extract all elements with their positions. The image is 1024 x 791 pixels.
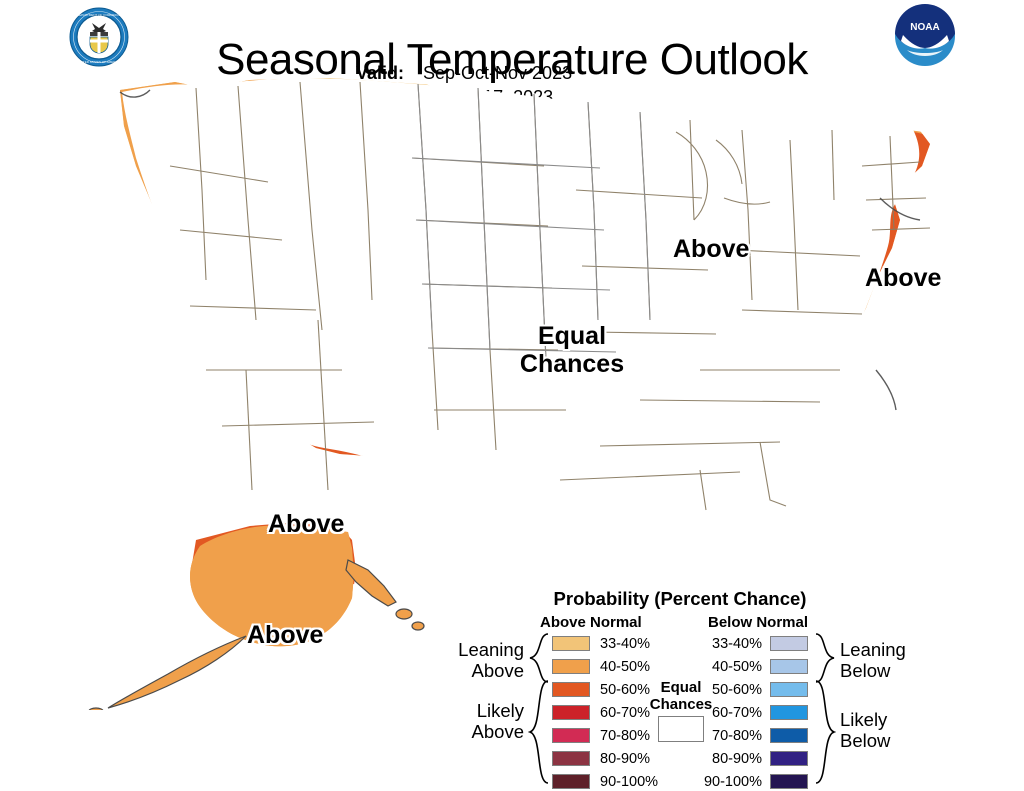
legend-swatch-below-50-60 xyxy=(770,682,808,697)
conus-coastline xyxy=(122,78,919,518)
noaa-logo-text: NOAA xyxy=(910,22,939,33)
legend-equal-chances-line1: Equal xyxy=(621,680,741,697)
legend-label-below-80-90: 80-90% xyxy=(674,751,762,767)
legend-likely-below-label: Likely Below xyxy=(840,710,940,751)
legend-label-below-33-40: 33-40% xyxy=(674,636,762,652)
map-label-above-southwest: Above xyxy=(268,510,344,539)
map-label-above-northeast: Above xyxy=(865,264,941,293)
legend-equal-chances-line2: Chances xyxy=(621,697,741,714)
legend-swatch-below-40-50 xyxy=(770,659,808,674)
noaa-logo-icon: NOAA xyxy=(893,4,957,68)
legend-swatch-below-90-100 xyxy=(770,774,808,789)
map-label-equal-chances: Equal Chances xyxy=(507,322,637,378)
bracket-leaning-below-icon xyxy=(814,632,836,684)
map-label-above-alaska: Above xyxy=(247,621,323,650)
legend-likely-below-line2: Below xyxy=(840,731,940,752)
legend-likely-above-line2: Above xyxy=(424,722,524,743)
map-label-equal-chances-line1: Equal xyxy=(507,322,637,350)
legend-row-below-5: 80-90% xyxy=(420,751,840,772)
bracket-likely-above-icon xyxy=(528,678,550,788)
legend-leaning-above-label: Leaning Above xyxy=(424,640,524,681)
legend-swatch-below-33-40 xyxy=(770,636,808,651)
legend-swatch-below-70-80 xyxy=(770,728,808,743)
map-label-equal-chances-line2: Chances xyxy=(507,350,637,378)
legend-row-below-6: 90-100% xyxy=(420,774,840,791)
legend-likely-above-label: Likely Above xyxy=(424,701,524,742)
legend-leaning-above-line2: Above xyxy=(424,661,524,682)
legend-leaning-below-label: Leaning Below xyxy=(840,640,940,681)
alaska-panhandle xyxy=(346,560,424,630)
legend-equal-chances-label: Equal Chances xyxy=(621,680,741,714)
alaska-inset xyxy=(27,510,424,710)
legend-swatch-below-80-90 xyxy=(770,751,808,766)
svg-text:DEPARTMENT OF COMMERCE: DEPARTMENT OF COMMERCE xyxy=(77,13,121,17)
bracket-likely-below-icon xyxy=(814,678,836,788)
map-label-above-great-lakes: Above xyxy=(673,235,749,264)
legend-swatch-below-60-70 xyxy=(770,705,808,720)
legend-label-below-90-100: 90-100% xyxy=(674,774,762,790)
probability-legend: Probability (Percent Chance) Above Norma… xyxy=(420,588,940,791)
legend-leaning-above-line1: Leaning xyxy=(424,640,524,661)
legend-leaning-below-line2: Below xyxy=(840,661,940,682)
legend-likely-below-line1: Likely xyxy=(840,710,940,731)
legend-title: Probability (Percent Chance) xyxy=(420,588,940,610)
legend-swatch-equal-chances xyxy=(658,716,704,742)
aleutian-islands xyxy=(27,636,246,710)
seasonal-temperature-outlook-page: DEPARTMENT OF COMMERCE UNITED STATES OF … xyxy=(0,0,1024,791)
legend-above-normal-header: Above Normal xyxy=(540,614,642,631)
legend-below-normal-header: Below Normal xyxy=(708,614,808,631)
legend-label-below-40-50: 40-50% xyxy=(674,659,762,675)
legend-likely-above-line1: Likely xyxy=(424,701,524,722)
legend-leaning-below-line1: Leaning xyxy=(840,640,940,661)
bracket-leaning-above-icon xyxy=(528,632,550,684)
